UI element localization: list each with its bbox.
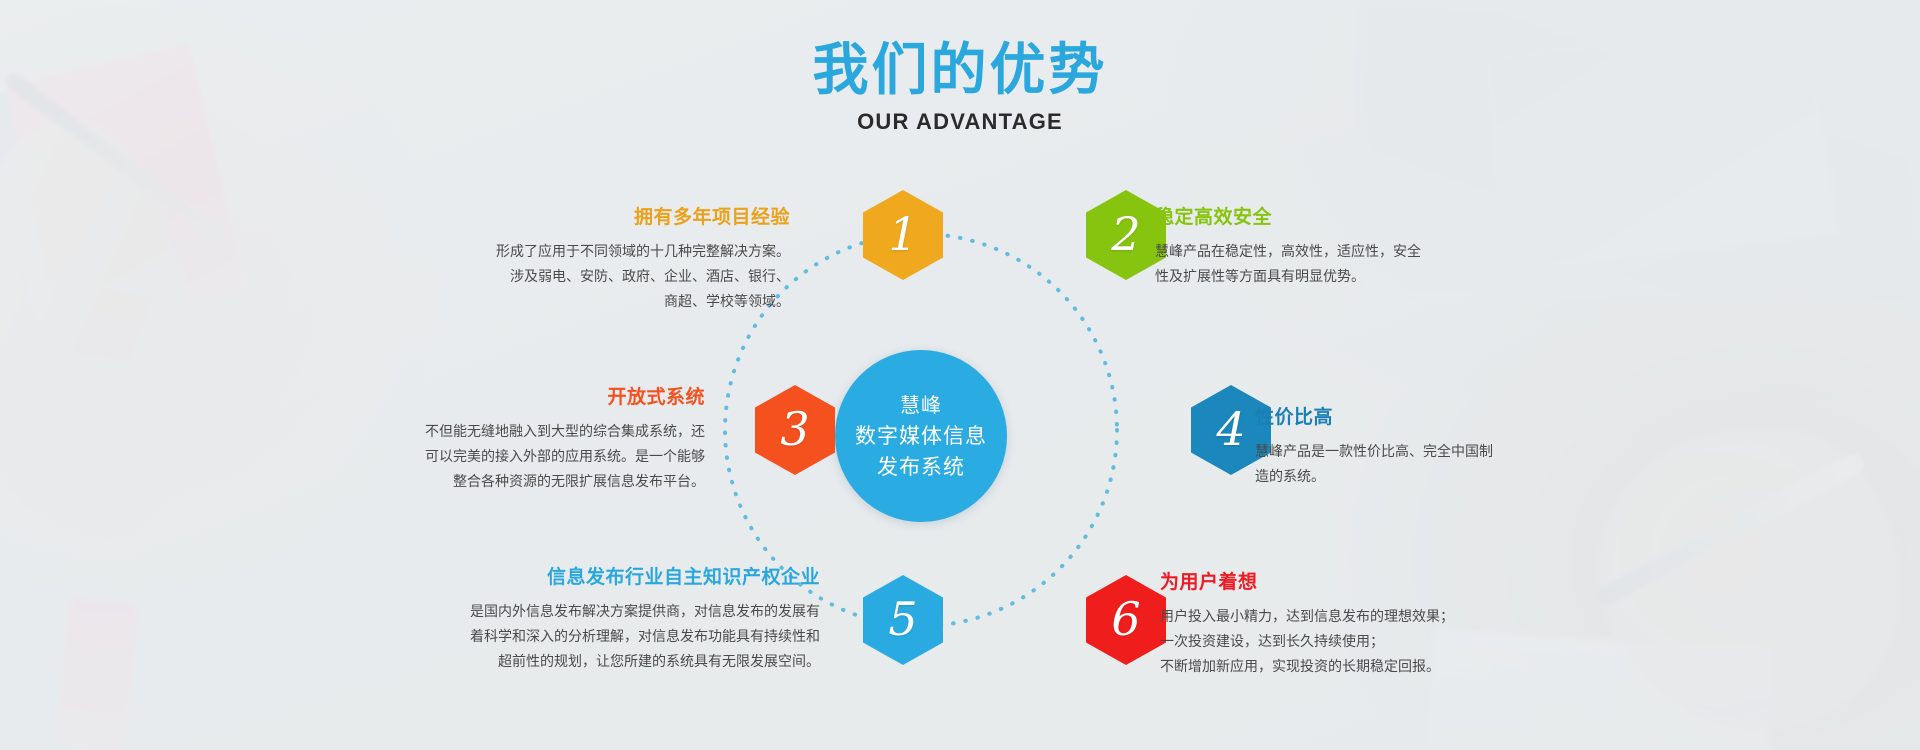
advantage-title-5: 信息发布行业自主知识产权企业: [360, 565, 820, 591]
advantage-title-2: 稳定高效安全: [1155, 205, 1575, 231]
advantage-body-5: 是国内外信息发布解决方案提供商，对信息发布的发展有着科学和深入的分析理解，对信息…: [360, 600, 820, 675]
hexagon-number-6: 6: [1111, 596, 1140, 642]
page-title-en: OUR ADVANTAGE: [0, 109, 1920, 135]
advantage-body-line: 造的系统。: [1255, 465, 1655, 490]
page-heading: 我们的优势 OUR ADVANTAGE: [0, 42, 1920, 135]
advantage-block-1: 拥有多年项目经验 形成了应用于不同领域的十几种完整解决方案。涉及弱电、安防、政府…: [360, 205, 790, 315]
center-brand-circle: 慧峰 数字媒体信息 发布系统: [835, 350, 1007, 522]
advantage-body-1: 形成了应用于不同领域的十几种完整解决方案。涉及弱电、安防、政府、企业、酒店、银行…: [360, 240, 790, 315]
hexagon-number-4: 4: [1216, 406, 1245, 452]
advantage-body-line: 商超、学校等领域。: [360, 290, 790, 315]
advantage-body-line: 整合各种资源的无限扩展信息发布平台。: [330, 470, 705, 495]
advantage-body-line: 不但能无缝地融入到大型的综合集成系统，还: [330, 420, 705, 445]
advantage-block-4: 性价比高 慧峰产品是一款性价比高、完全中国制造的系统。: [1255, 405, 1655, 490]
advantage-body-line: 超前性的规划，让您所建的系统具有无限发展空间。: [360, 650, 820, 675]
advantage-body-2: 慧峰产品在稳定性，高效性，适应性，安全性及扩展性等方面具有明显优势。: [1155, 240, 1575, 290]
advantage-body-line: 形成了应用于不同领域的十几种完整解决方案。: [360, 240, 790, 265]
advantage-body-line: 着科学和深入的分析理解，对信息发布功能具有持续性和: [360, 625, 820, 650]
center-brand-line-2: 数字媒体信息: [855, 421, 987, 452]
page-title-cn: 我们的优势: [0, 42, 1920, 101]
advantage-block-3: 开放式系统 不但能无缝地融入到大型的综合集成系统，还可以完美的接入外部的应用系统…: [330, 385, 705, 495]
hexagon-number-3: 3: [780, 406, 809, 452]
hexagon-number-1: 1: [888, 211, 917, 257]
hexagon-number-5: 5: [888, 596, 917, 642]
hexagon-number-2: 2: [1111, 211, 1140, 257]
advantage-body-line: 一次投资建设，达到长久持续使用；: [1160, 630, 1590, 655]
advantage-block-6: 为用户着想 用户投入最小精力，达到信息发布的理想效果；一次投资建设，达到长久持续…: [1160, 570, 1590, 680]
advantage-body-4: 慧峰产品是一款性价比高、完全中国制造的系统。: [1255, 440, 1655, 490]
advantage-body-3: 不但能无缝地融入到大型的综合集成系统，还可以完美的接入外部的应用系统。是一个能够…: [330, 420, 705, 495]
advantage-body-6: 用户投入最小精力，达到信息发布的理想效果；一次投资建设，达到长久持续使用；不断增…: [1160, 605, 1590, 680]
advantage-block-2: 稳定高效安全 慧峰产品在稳定性，高效性，适应性，安全性及扩展性等方面具有明显优势…: [1155, 205, 1575, 290]
advantage-body-line: 慧峰产品是一款性价比高、完全中国制: [1255, 440, 1655, 465]
advantage-title-1: 拥有多年项目经验: [360, 205, 790, 231]
advantage-banner: 我们的优势 OUR ADVANTAGE 慧峰 数字媒体信息 发布系统 1 2 3…: [0, 0, 1920, 750]
center-brand-line-1: 慧峰: [900, 390, 942, 421]
advantage-body-line: 用户投入最小精力，达到信息发布的理想效果；: [1160, 605, 1590, 630]
advantage-title-4: 性价比高: [1255, 405, 1655, 431]
advantage-body-line: 可以完美的接入外部的应用系统。是一个能够: [330, 445, 705, 470]
advantage-body-line: 不断增加新应用，实现投资的长期稳定回报。: [1160, 655, 1590, 680]
advantage-title-3: 开放式系统: [330, 385, 705, 411]
advantage-title-6: 为用户着想: [1160, 570, 1590, 596]
advantage-block-5: 信息发布行业自主知识产权企业 是国内外信息发布解决方案提供商，对信息发布的发展有…: [360, 565, 820, 675]
advantage-body-line: 性及扩展性等方面具有明显优势。: [1155, 265, 1575, 290]
center-brand-line-3: 发布系统: [877, 452, 965, 483]
advantage-body-line: 慧峰产品在稳定性，高效性，适应性，安全: [1155, 240, 1575, 265]
advantage-body-line: 涉及弱电、安防、政府、企业、酒店、银行、: [360, 265, 790, 290]
advantage-body-line: 是国内外信息发布解决方案提供商，对信息发布的发展有: [360, 600, 820, 625]
